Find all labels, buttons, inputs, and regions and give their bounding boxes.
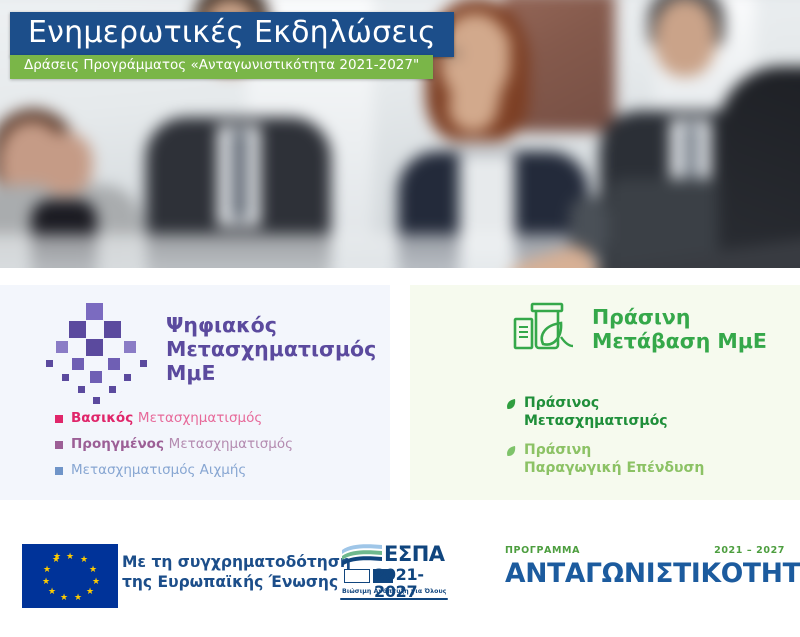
square-bullet-icon bbox=[55, 436, 63, 449]
hero-subtitle-bar: Δράσεις Προγράμματος «Ανταγωνιστικότητα … bbox=[10, 55, 433, 79]
list-item[interactable]: Μετασχηματισμός Αιχμής bbox=[55, 462, 293, 479]
card-green-transition[interactable]: Πράσινη Μετάβαση ΜμΕ Πράσινος Μετασχηματ… bbox=[410, 285, 800, 500]
list-item[interactable]: Προηγμένος Μετασχηματισμός bbox=[55, 436, 293, 453]
leaf-bullet-icon bbox=[506, 442, 516, 458]
programme-logo: ΠΡΟΓΡΑΜΜΑ 2021 – 2027 ΑΝΤΑΓΩΝΙΣΤΙΚΟΤΗΤΑ bbox=[505, 545, 785, 601]
list-item[interactable]: Βασικός Μετασχηματισμός bbox=[55, 410, 293, 427]
table-shape bbox=[0, 234, 570, 268]
list-item-label: Πράσινη Παραγωγική Επένδυση bbox=[524, 442, 704, 477]
eu-flag-icon: ★ ★ ★ ★ ★ ★ ★ ★ ★ ★ ★ ★ bbox=[22, 544, 118, 608]
list-item[interactable]: Πράσινος Μετασχηματισμός bbox=[506, 395, 704, 430]
hero-title-bar: Ενημερωτικές Εκδηλώσεις bbox=[10, 12, 454, 57]
square-bullet-icon bbox=[55, 410, 63, 423]
programme-cards: Ψηφιακός Μετασχηματισμός ΜμΕ Βασικός Μετ… bbox=[0, 285, 800, 500]
jar-leaf-icon bbox=[506, 301, 578, 357]
arm-shape bbox=[37, 132, 92, 196]
page-subtitle: Δράσεις Προγράμματος «Ανταγωνιστικότητα … bbox=[24, 58, 419, 74]
leaf-bullet-icon bbox=[506, 395, 516, 411]
card-digital-bullets: Βασικός Μετασχηματισμός Προηγμένος Μετασ… bbox=[55, 410, 293, 488]
card-digital-header: Ψηφιακός Μετασχηματισμός ΜμΕ bbox=[52, 303, 376, 395]
tie-shape bbox=[231, 130, 247, 220]
card-green-title: Πράσινη Μετάβαση ΜμΕ bbox=[592, 305, 767, 353]
programme-years: 2021 – 2027 bbox=[714, 545, 785, 556]
card-digital-title: Ψηφιακός Μετασχηματισμός ΜμΕ bbox=[166, 313, 376, 385]
foreground-figure bbox=[718, 66, 800, 268]
square-bullet-icon bbox=[55, 462, 63, 475]
programme-name: ΑΝΤΑΓΩΝΙΣΤΙΚΟΤΗΤΑ bbox=[505, 558, 800, 589]
greek-flag-icon bbox=[344, 569, 370, 583]
list-item[interactable]: Πράσινη Παραγωγική Επένδυση bbox=[506, 442, 704, 477]
list-item-label: Βασικός Μετασχηματισμός bbox=[71, 410, 262, 427]
list-item-label: Μετασχηματισμός Αιχμής bbox=[71, 462, 246, 479]
page-title: Ενημερωτικές Εκδηλώσεις bbox=[28, 17, 436, 49]
pixel-mosaic-icon bbox=[52, 303, 148, 395]
espa-tagline: Βιώσιμη Ανάπτυξη για Όλους bbox=[342, 588, 447, 595]
card-digital-transformation[interactable]: Ψηφιακός Μετασχηματισμός ΜμΕ Βασικός Μετ… bbox=[0, 285, 390, 500]
espa-underline bbox=[340, 598, 448, 600]
programme-kicker: ΠΡΟΓΡΑΜΜΑ bbox=[505, 545, 580, 556]
list-item-label: Πράσινος Μετασχηματισμός bbox=[524, 395, 668, 430]
eu-cofinancing-text: Με τη συγχρηματοδότηση της Ευρωπαϊκής Έν… bbox=[122, 552, 351, 593]
head-shape bbox=[654, 0, 715, 77]
espa-wordmark: ΕΣΠΑ bbox=[384, 543, 445, 565]
list-item-label: Προηγμένος Μετασχηματισμός bbox=[71, 436, 293, 453]
card-green-bullets: Πράσινος Μετασχηματισμός Πράσινη Παραγωγ… bbox=[506, 395, 704, 489]
wave-icon bbox=[340, 543, 384, 567]
card-green-header: Πράσινη Μετάβαση ΜμΕ bbox=[506, 301, 767, 357]
espa-logo: ΕΣΠΑ 2021-2027 Βιώσιμη Ανάπτυξη για Όλου… bbox=[340, 543, 448, 605]
